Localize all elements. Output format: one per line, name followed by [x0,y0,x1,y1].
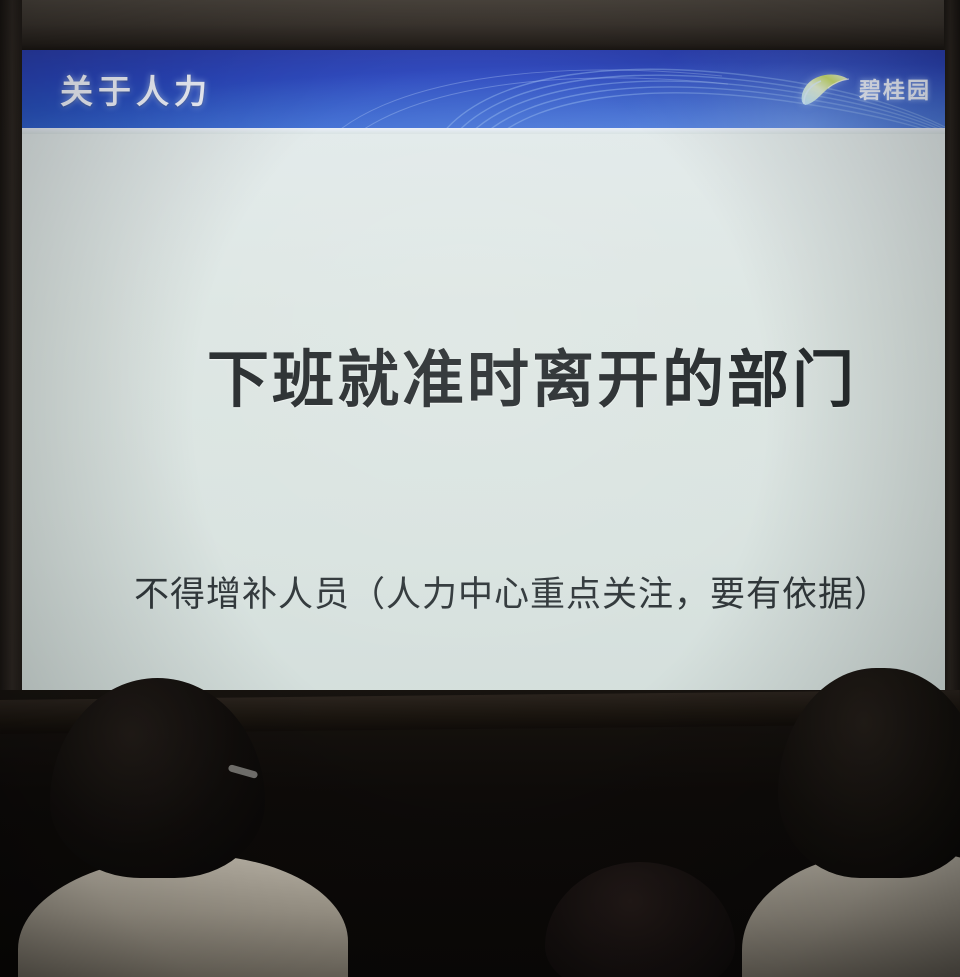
leaf-swoosh-icon [798,71,852,107]
brand-logo: 碧桂园 [798,71,931,107]
slide-subtitle: 不得增补人员（人力中心重点关注，要有依据） [134,566,890,617]
wall-right-band [944,0,960,760]
brand-name: 碧桂园 [859,73,931,105]
wall-left-band [0,0,22,760]
projected-slide-photo: 关于人力 碧桂园 [0,0,960,977]
slide-heading: 下班就准时离开的部门 [207,329,857,419]
slide-title-banner: 关于人力 碧桂园 [22,50,945,128]
slide-body: 下班就准时离开的部门 不得增补人员（人力中心重点关注，要有依据） [22,134,945,750]
wall-top-band [0,0,960,52]
slide-banner-title: 关于人力 [60,65,212,113]
projection-screen: 关于人力 碧桂园 [22,50,945,750]
